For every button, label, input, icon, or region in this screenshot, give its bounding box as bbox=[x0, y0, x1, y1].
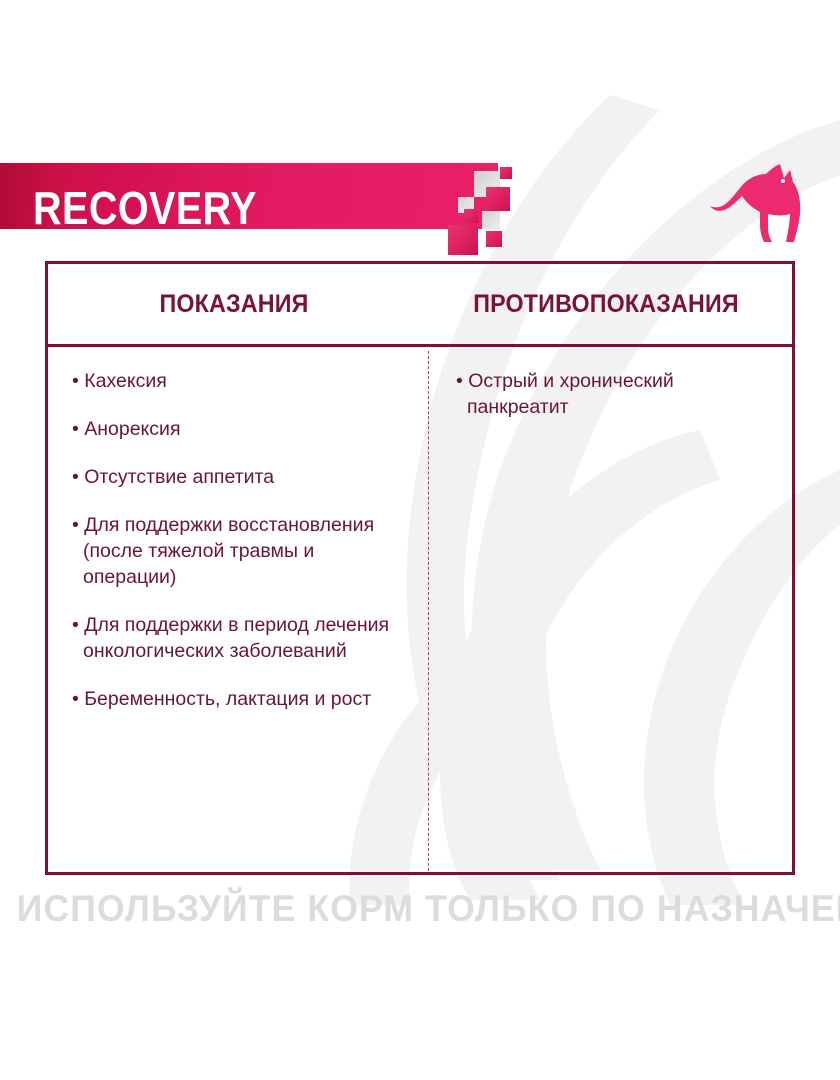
footer-disclaimer: ИСПОЛЬЗУЙТЕ КОРМ ТОЛЬКО ПО НАЗНАЧЕНИЮ ВР… bbox=[17, 888, 823, 930]
title-banner: RECOVERY bbox=[0, 163, 560, 253]
indications-table: ПОКАЗАНИЯ ПРОТИВОПОКАЗАНИЯ • Кахексия • … bbox=[45, 261, 795, 875]
list-item: • Кахексия bbox=[72, 368, 406, 394]
contraindications-column: • Острый и хронический панкреатит bbox=[428, 347, 792, 875]
mosaic-squares-icon bbox=[438, 153, 558, 253]
list-item: • Анорексия bbox=[72, 416, 406, 442]
table-body: • Кахексия • Анорексия • Отсутствие аппе… bbox=[48, 347, 792, 875]
column-header-contraindications: ПРОТИВОПОКАЗАНИЯ bbox=[433, 290, 779, 319]
list-item: • Острый и хронический панкреатит bbox=[456, 368, 770, 420]
list-item: • Для поддержки восстановления (после тя… bbox=[72, 512, 406, 590]
cat-silhouette-icon bbox=[704, 158, 814, 250]
list-item: • Отсутствие аппетита bbox=[72, 464, 406, 490]
indications-column: • Кахексия • Анорексия • Отсутствие аппе… bbox=[48, 347, 428, 875]
banner-title: RECOVERY bbox=[33, 185, 257, 231]
list-item: • Для поддержки в период лечения онколог… bbox=[72, 612, 406, 664]
list-item: • Беременность, лактация и рост bbox=[72, 686, 406, 712]
column-divider bbox=[428, 351, 429, 871]
table-header-row: ПОКАЗАНИЯ ПРОТИВОПОКАЗАНИЯ bbox=[48, 264, 792, 347]
column-header-indications: ПОКАЗАНИЯ bbox=[61, 290, 407, 319]
